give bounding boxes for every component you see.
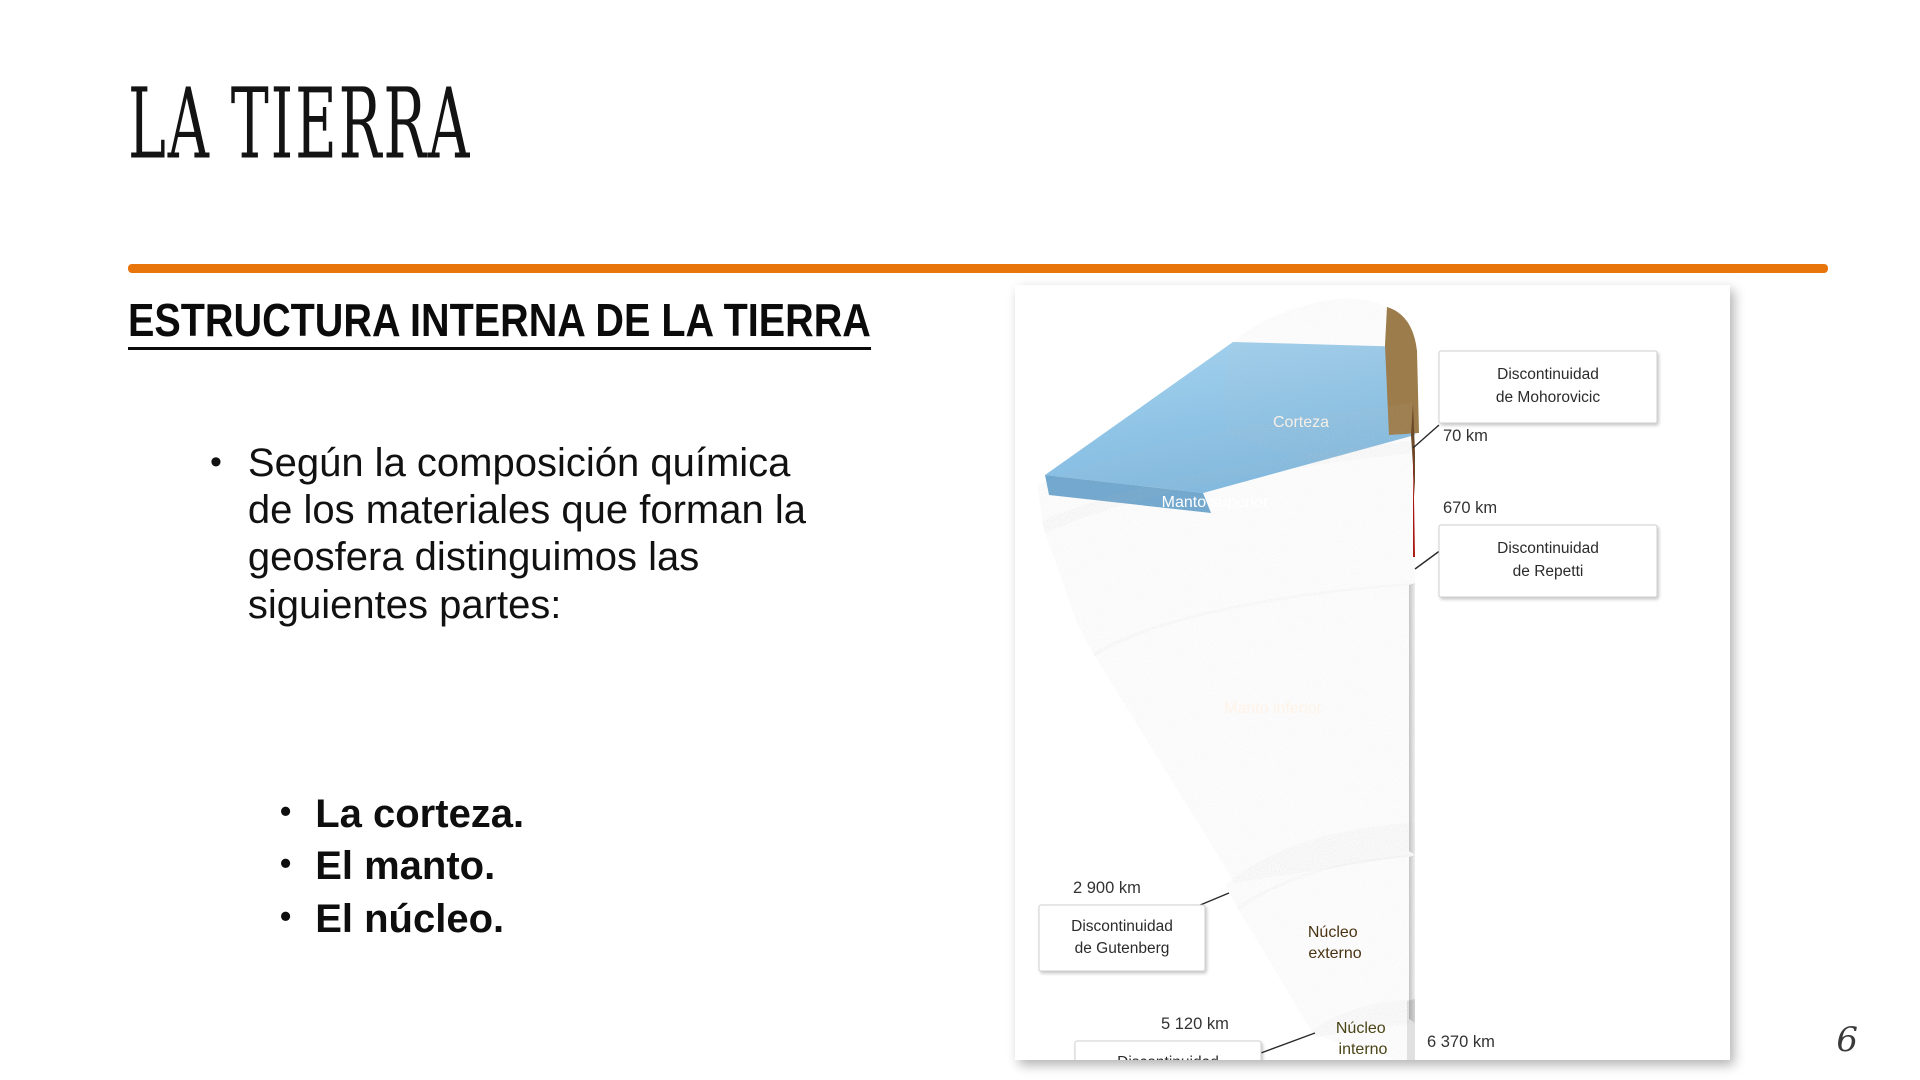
bullet-marker-icon: • [280,895,291,937]
bullet-marker-icon: • [210,440,222,486]
callout-line1: Discontinuidad [1117,1054,1219,1060]
callout-line1: Discontinuidad [1497,540,1599,557]
list-item-label: La corteza. [315,790,524,838]
list-item: • El manto. [280,842,800,890]
bullet-marker-icon: • [280,842,291,884]
depth-label-70km: 70 km [1443,427,1488,445]
list-item-label: Según la composición química de los mate… [248,440,830,629]
slide: LA TIERRA ESTRUCTURA INTERNA DE LA TIERR… [0,0,1920,1080]
bullet-list-secondary: • La corteza. • El manto. • El núcleo. [280,790,800,947]
layer-label-manto-inferior: Manto inferior [1224,700,1322,717]
list-item: • Según la composición química de los ma… [210,440,830,629]
section-heading: ESTRUCTURA INTERNA DE LA TIERRA [128,296,871,350]
layer-label-manto-superior: Manto superior [1162,494,1269,511]
accent-divider [128,264,1828,273]
list-item-label: El manto. [315,842,495,890]
page-number: 6 [1836,1020,1858,1060]
callout-line2: de Mohorovicic [1496,389,1600,406]
earth-structure-figure: Corteza Manto superior Manto inferior Nú… [1015,285,1730,1060]
layer-label-corteza: Corteza [1273,414,1329,431]
bullet-list-primary: • Según la composición química de los ma… [210,440,830,629]
earth-cutaway-svg: Corteza Manto superior Manto inferior Nú… [1015,285,1730,1060]
callout-line2: de Repetti [1513,563,1584,580]
depth-label-6370km: 6 370 km [1427,1033,1495,1051]
list-item: • La corteza. [280,790,800,838]
page-title: LA TIERRA [128,76,471,174]
callout-mohorovicic[interactable]: Discontinuidad de Mohorovicic [1439,351,1657,423]
list-item-label: El núcleo. [315,895,504,943]
bullet-marker-icon: • [280,790,291,832]
callout-line2: de Gutenberg [1075,940,1170,957]
callout-lehmann[interactable]: Discontinuidad de Lehmann [1075,1041,1261,1060]
callout-gutenberg[interactable]: Discontinuidad de Gutenberg [1039,905,1205,971]
list-item: • El núcleo. [280,895,800,943]
callout-line1: Discontinuidad [1497,366,1599,383]
callout-line1: Discontinuidad [1071,918,1173,935]
depth-label-5120km: 5 120 km [1161,1015,1229,1033]
depth-label-670km: 670 km [1443,499,1497,517]
callout-repetti[interactable]: Discontinuidad de Repetti [1439,525,1657,597]
depth-label-2900km: 2 900 km [1073,879,1141,897]
